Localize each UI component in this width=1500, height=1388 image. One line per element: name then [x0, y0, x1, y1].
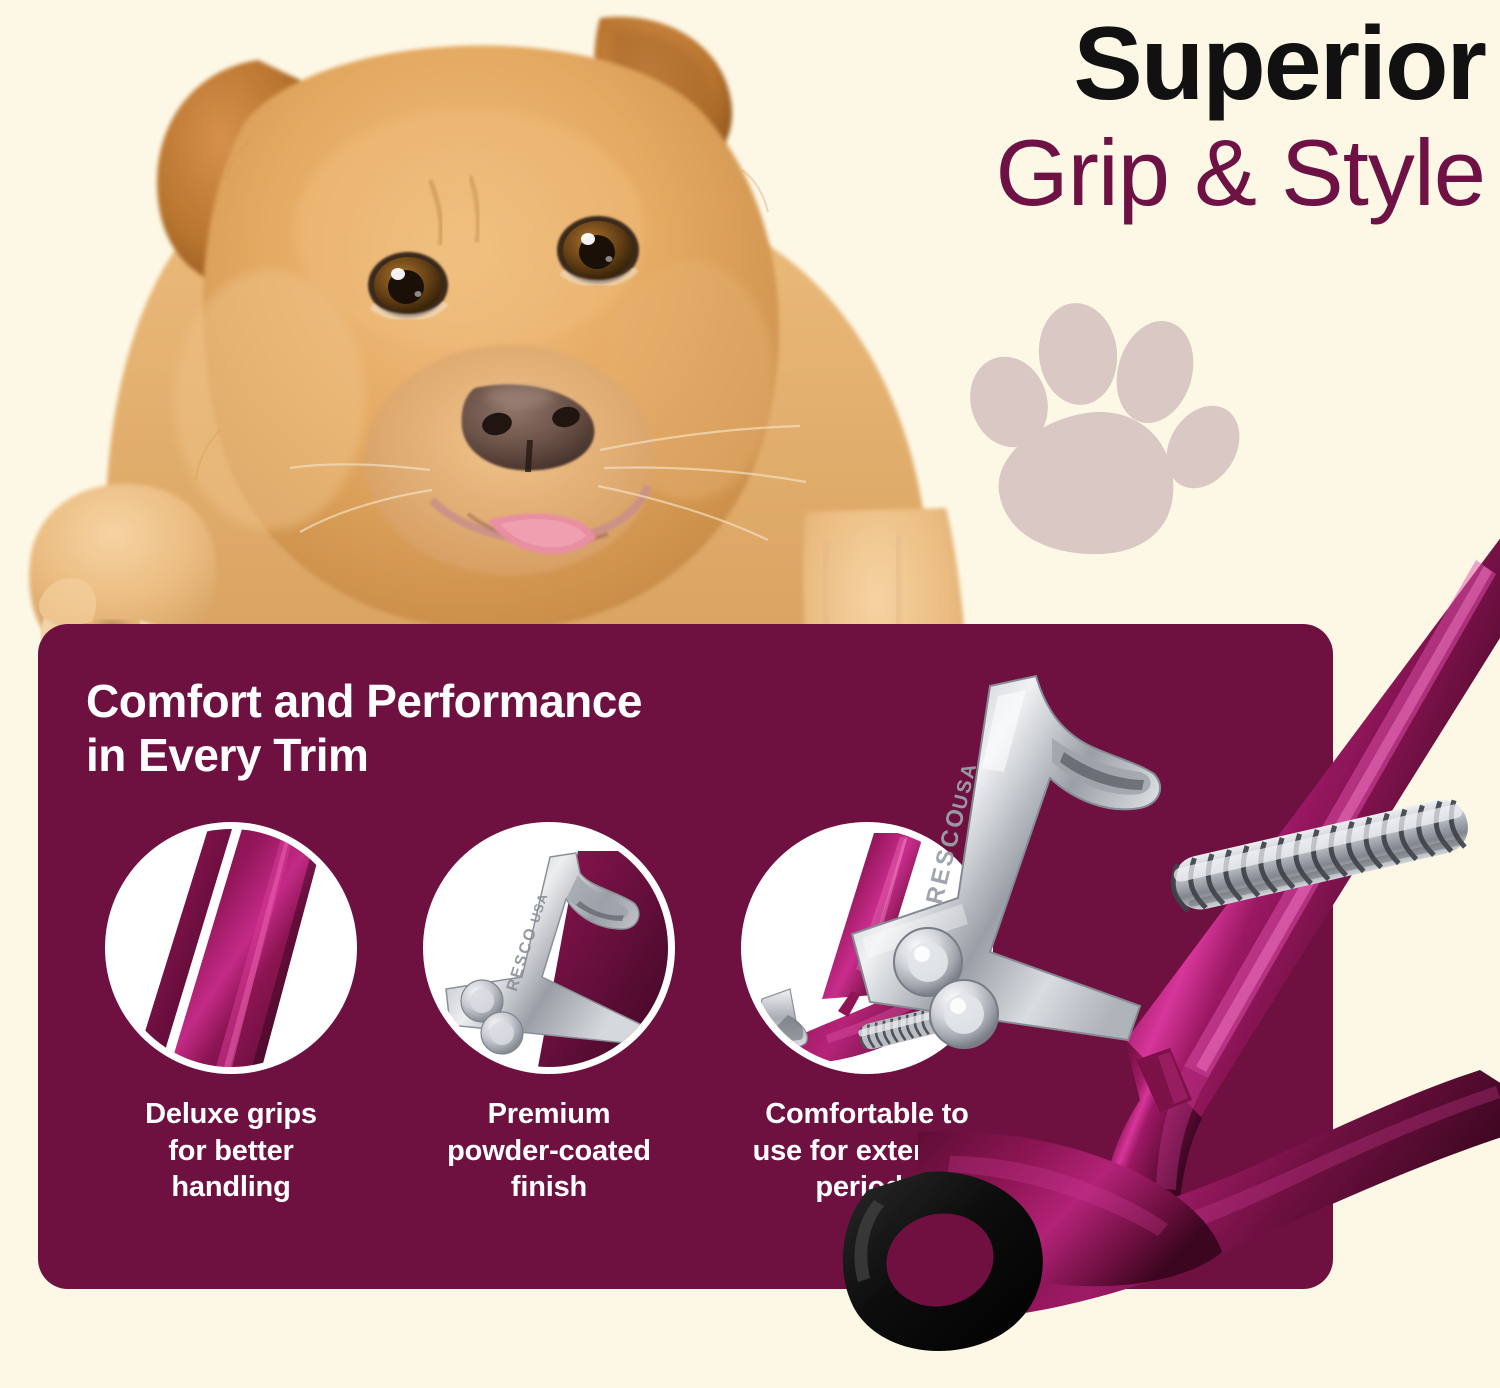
product-infographic: Superior Grip & Style Comfort and Perfor… [0, 0, 1500, 1388]
info-card: Comfort and Performance in Every Trim [38, 624, 1333, 1289]
feature-caption: Deluxe grips for better handling [145, 1096, 317, 1206]
paw-print-icon [965, 292, 1240, 557]
headline-primary: Superior [845, 8, 1485, 120]
feature-caption: Comfortable to use for extended periods [753, 1096, 982, 1206]
feature-item[interactable]: Comfortable to use for extended periods [734, 822, 1000, 1206]
spring-closeup-icon[interactable] [741, 822, 993, 1074]
dog-left-eye [368, 252, 448, 318]
card-heading: Comfort and Performance in Every Trim [86, 674, 642, 783]
headline-block: Superior Grip & Style [845, 8, 1485, 224]
grip-closeup-icon[interactable] [105, 822, 357, 1074]
blade-closeup-icon[interactable]: RESCO USA [423, 822, 675, 1074]
feature-item[interactable]: RESCO USA Premi [416, 822, 682, 1206]
dog-nose [462, 384, 595, 472]
dog-right-eye [557, 216, 639, 284]
feature-list: Deluxe grips for better handling [98, 822, 1098, 1206]
feature-item[interactable]: Deluxe grips for better handling [98, 822, 364, 1206]
headline-secondary: Grip & Style [845, 122, 1485, 224]
feature-caption: Premium powder-coated finish [447, 1096, 651, 1206]
